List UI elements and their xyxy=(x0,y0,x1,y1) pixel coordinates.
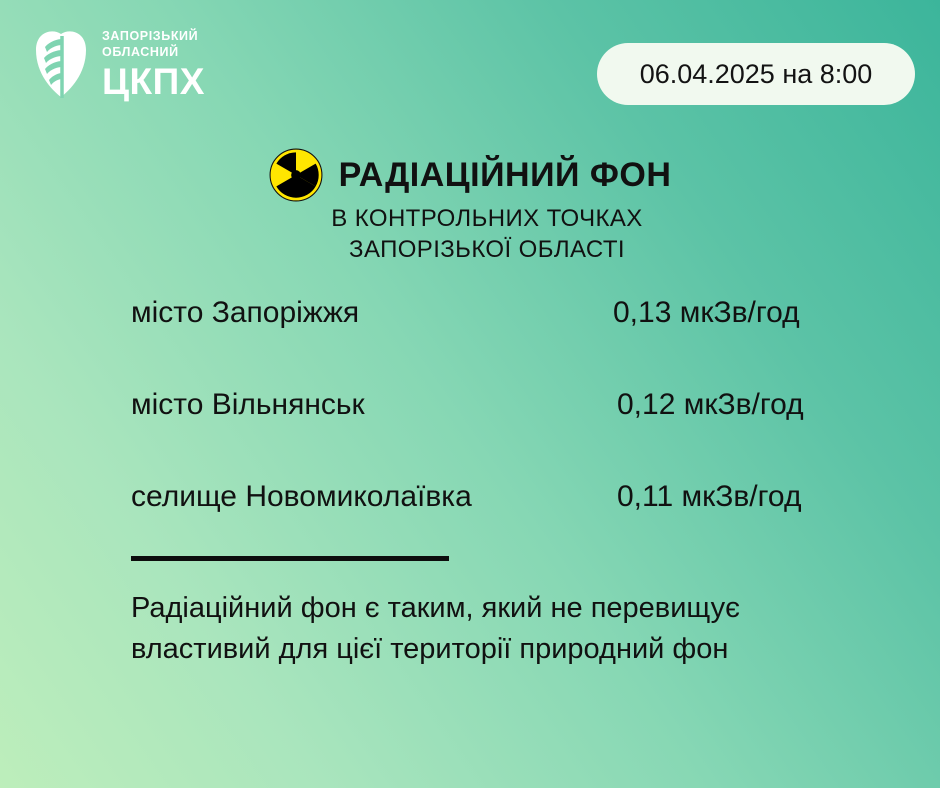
date-time-text: 06.04.2025 на 8:00 xyxy=(640,59,873,90)
brand-wordmark: ЗАПОРІЗЬКИЙ ОБЛАСНИЙ ЦКПХ xyxy=(102,30,205,100)
radiation-trefoil-icon xyxy=(269,148,323,202)
date-time-badge: 06.04.2025 на 8:00 xyxy=(597,43,915,105)
measurement-list: місто Запоріжжя 0,13 мкЗв/год місто Віль… xyxy=(131,296,871,572)
page-title: РАДІАЦІЙНИЙ ФОН xyxy=(339,156,672,195)
title-main-row: РАДІАЦІЙНИЙ ФОН xyxy=(0,148,940,202)
dose-rate-value: 0,13 мкЗв/год xyxy=(613,296,800,330)
dose-rate-value: 0,11 мкЗв/год xyxy=(617,480,801,514)
footer-note: Радіаційний фон є таким, який не перевищ… xyxy=(131,588,891,670)
brand-line-1: ЗАПОРІЗЬКИЙ xyxy=(102,30,205,43)
dose-rate-value: 0,12 мкЗв/год xyxy=(617,388,804,422)
section-divider xyxy=(131,556,449,561)
location-label: місто Запоріжжя xyxy=(131,296,359,330)
page-subtitle-line-1: В КОНТРОЛЬНИХ ТОЧКАХ xyxy=(34,204,940,235)
radiation-background-infographic: ЗАПОРІЗЬКИЙ ОБЛАСНИЙ ЦКПХ 06.04.2025 на … xyxy=(0,0,940,788)
measurement-row: місто Запоріжжя 0,13 мкЗв/год xyxy=(131,296,871,388)
measurement-row: місто Вільнянськ 0,12 мкЗв/год xyxy=(131,388,871,480)
page-subtitle: В КОНТРОЛЬНИХ ТОЧКАХ ЗАПОРІЗЬКОЇ ОБЛАСТІ xyxy=(0,204,940,265)
location-label: селище Новомиколаївка xyxy=(131,480,472,514)
shield-heart-logo-icon xyxy=(32,30,90,100)
footer-note-line-2: властивий для цієї території природний ф… xyxy=(131,629,891,670)
page-subtitle-line-2: ЗАПОРІЗЬКОЇ ОБЛАСТІ xyxy=(34,235,940,266)
brand-line-2: ОБЛАСНИЙ xyxy=(102,46,205,59)
footer-note-line-1: Радіаційний фон є таким, який не перевищ… xyxy=(131,588,891,629)
brand-header: ЗАПОРІЗЬКИЙ ОБЛАСНИЙ ЦКПХ xyxy=(32,30,205,100)
brand-acronym: ЦКПХ xyxy=(102,63,205,100)
location-label: місто Вільнянськ xyxy=(131,388,365,422)
title-block: РАДІАЦІЙНИЙ ФОН В КОНТРОЛЬНИХ ТОЧКАХ ЗАП… xyxy=(0,148,940,265)
